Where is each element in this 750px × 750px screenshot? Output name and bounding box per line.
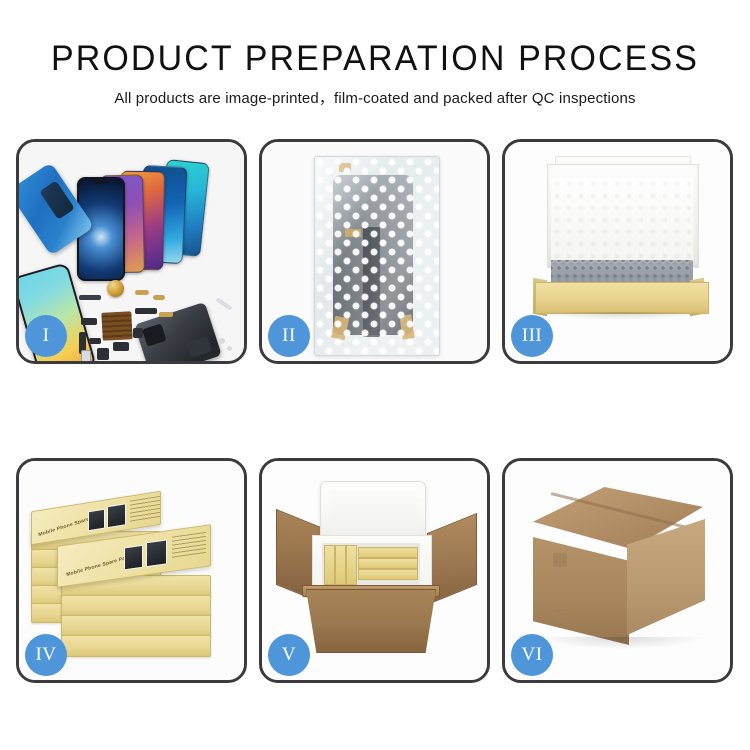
part-module-icon <box>133 328 143 338</box>
gold-coil-part-icon <box>107 280 124 297</box>
kraft-box-front-icon <box>535 282 709 314</box>
process-step-panel-2: II <box>259 139 490 364</box>
step-badge-3: III <box>511 315 553 357</box>
box-spec-text <box>172 532 206 559</box>
header: PRODUCT PREPARATION PROCESS All products… <box>0 0 750 108</box>
stacked-box <box>61 615 211 637</box>
step-badge-5: V <box>268 634 310 676</box>
box-screen-thumb-2-icon <box>146 539 167 567</box>
inner-yellow-box <box>335 545 346 585</box>
process-step-panel-5: V <box>259 458 490 683</box>
process-step-panel-6: VI <box>502 458 733 683</box>
plastic-sheen <box>315 157 439 355</box>
carton-flap-tab-icon <box>553 553 567 567</box>
product-preparation-infographic: PRODUCT PREPARATION PROCESS All products… <box>0 0 750 750</box>
inner-yellow-box <box>358 569 418 580</box>
process-step-grid: I II <box>16 139 734 695</box>
step-badge-4: IV <box>25 634 67 676</box>
step-badge-1: I <box>25 315 67 357</box>
box-screen-thumb-icon <box>88 509 105 532</box>
step-badge-2: II <box>268 315 310 357</box>
part-strip-icon <box>79 295 101 300</box>
white-foam-sheet-icon <box>551 178 693 264</box>
part-gold-strip-icon <box>159 312 173 317</box>
process-step-panel-4: Mobile Phone Spare Parts Mobile Phone Sp… <box>16 458 247 683</box>
page-subtitle: All products are image-printed，film-coat… <box>0 78 750 108</box>
page-title: PRODUCT PREPARATION PROCESS <box>11 0 739 78</box>
box-screen-thumb-2-icon <box>107 503 126 528</box>
part-connector-2-icon <box>153 295 165 300</box>
stacked-box <box>61 635 211 657</box>
box-spec-text <box>130 495 161 522</box>
part-connector-icon <box>135 290 149 295</box>
stacked-box <box>61 595 211 617</box>
process-step-panel-3: III <box>502 139 733 364</box>
part-speaker-icon <box>97 348 109 360</box>
part-small-icon <box>89 338 101 344</box>
box-label-text: Mobile Phone Spare Parts <box>66 554 133 578</box>
part-sim-tray-icon <box>81 350 91 361</box>
carton-front-icon <box>306 589 436 653</box>
box-shadow <box>539 312 705 320</box>
inner-yellow-box <box>358 558 418 569</box>
process-step-panel-1: I <box>16 139 247 364</box>
part-block-icon <box>81 318 97 325</box>
bubble-wrap-bag-icon <box>314 156 440 356</box>
foam-box-interior <box>322 543 420 585</box>
screw-icon <box>219 338 225 344</box>
screw-2-icon <box>227 346 232 351</box>
inner-yellow-box <box>358 547 418 558</box>
carton-flap-tab-2-icon <box>555 609 569 623</box>
step-badge-6: VI <box>511 634 553 676</box>
inner-yellow-box <box>324 545 335 585</box>
part-camera-icon <box>113 342 129 351</box>
part-ribbon-icon <box>135 308 157 314</box>
inner-yellow-box <box>346 545 357 585</box>
box-screen-thumb-icon <box>124 545 143 571</box>
carton-shadow <box>539 637 703 649</box>
chip-array-part-icon <box>101 311 132 341</box>
